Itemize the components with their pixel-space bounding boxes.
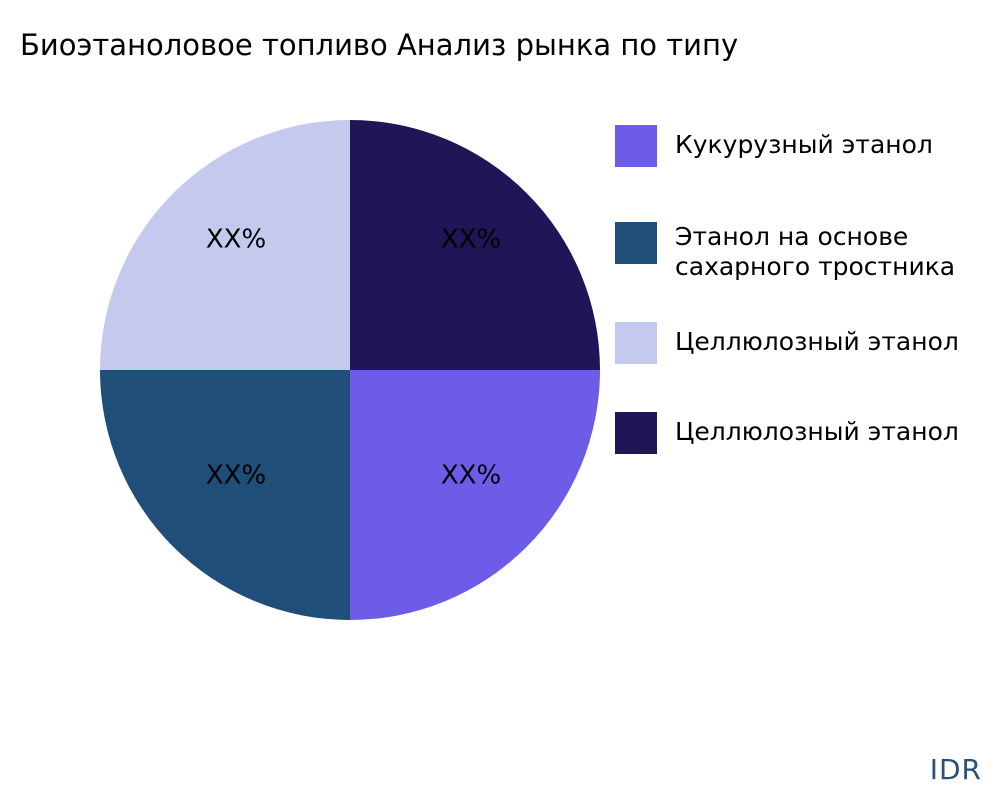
- pie-label-bottom-left: XX%: [206, 461, 266, 491]
- legend-label-cellulosic-ethanol-dark: Целлюлозный этанол: [675, 412, 959, 447]
- legend: Кукурузный этанол Этанол на основе сахар…: [615, 120, 1000, 470]
- pie-slice-bottom-right[interactable]: [350, 370, 600, 620]
- legend-item-cellulosic-ethanol-dark[interactable]: Целлюлозный этанол: [615, 412, 959, 454]
- pie-chart-svg: XX% XX% XX% XX%: [100, 120, 600, 620]
- legend-swatch-corn-ethanol: [615, 125, 657, 167]
- legend-swatch-cellulosic-ethanol-light: [615, 322, 657, 364]
- pie-label-top-left: XX%: [206, 225, 266, 255]
- legend-label-corn-ethanol: Кукурузный этанол: [675, 125, 933, 160]
- legend-item-sugarcane-ethanol[interactable]: Этанол на основе сахарного тростника: [615, 222, 955, 282]
- page-title: Биоэтаноловое топливо Анализ рынка по ти…: [20, 28, 738, 62]
- pie-slice-bottom-left[interactable]: [100, 370, 350, 620]
- chart-canvas: Биоэтаноловое топливо Анализ рынка по ти…: [0, 0, 1000, 800]
- legend-item-cellulosic-ethanol-light[interactable]: Целлюлозный этанол: [615, 322, 959, 364]
- legend-item-corn-ethanol[interactable]: Кукурузный этанол: [615, 125, 933, 167]
- pie-label-bottom-right: XX%: [441, 461, 501, 491]
- legend-swatch-cellulosic-ethanol-dark: [615, 412, 657, 454]
- pie-label-top-right: XX%: [441, 225, 501, 255]
- idr-watermark: IDR: [930, 753, 982, 786]
- pie-chart: XX% XX% XX% XX%: [100, 120, 600, 620]
- legend-swatch-sugarcane-ethanol: [615, 222, 657, 264]
- legend-label-sugarcane-ethanol: Этанол на основе сахарного тростника: [675, 222, 955, 282]
- legend-label-cellulosic-ethanol-light: Целлюлозный этанол: [675, 322, 959, 357]
